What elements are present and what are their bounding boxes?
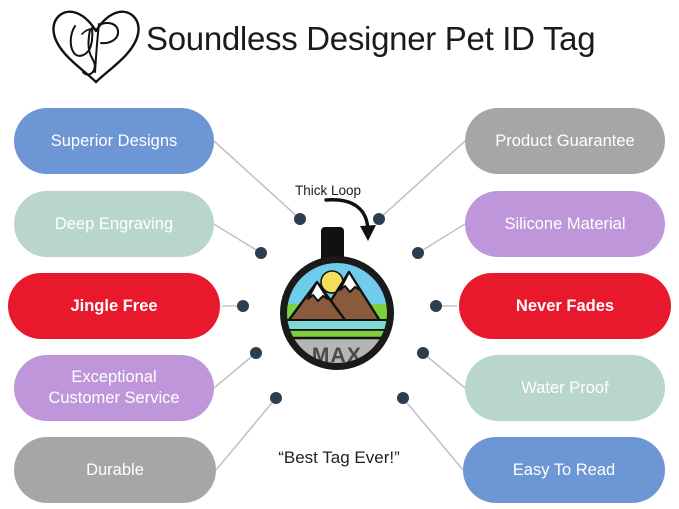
connector-line-water-proof [423,353,465,388]
connector-dot-easy-to-read [397,392,409,404]
connector-dot-never-fades [430,300,442,312]
connector-dot-water-proof [417,347,429,359]
connector-dot-exceptional [250,347,262,359]
connector-line-exceptional [214,353,256,388]
tag-ground-band [282,330,394,338]
feature-label: Jingle Free [70,296,157,317]
feature-label: Exceptional Customer Service [48,367,179,409]
pet-id-tag[interactable]: MAX [262,220,412,375]
feature-jingle-free[interactable]: Jingle Free [8,273,220,339]
connector-dot-jingle-free [237,300,249,312]
feature-exceptional-customer-service[interactable]: Exceptional Customer Service [14,355,214,421]
feature-label: Superior Designs [51,131,178,152]
feature-durable[interactable]: Durable [14,437,216,503]
feature-label-line2: Customer Service [48,389,179,407]
feature-label: Product Guarantee [495,131,634,152]
connector-dot-durable [270,392,282,404]
feature-superior-designs[interactable]: Superior Designs [14,108,214,174]
feature-easy-to-read[interactable]: Easy To Read [463,437,665,503]
feature-deep-engraving[interactable]: Deep Engraving [14,191,214,257]
feature-label-line1: Exceptional [71,368,156,386]
feature-label: Water Proof [521,378,608,399]
connector-dot-silicone-material [412,247,424,259]
feature-label: Deep Engraving [55,214,173,235]
feature-never-fades[interactable]: Never Fades [459,273,671,339]
feature-silicone-material[interactable]: Silicone Material [465,191,665,257]
connector-line-deep-engraving [214,224,261,253]
feature-label: Durable [86,460,144,481]
customer-quote: “Best Tag Ever!” [224,448,454,468]
tag-water [284,320,390,330]
feature-product-guarantee[interactable]: Product Guarantee [465,108,665,174]
connector-line-silicone-material [418,224,465,253]
connector-line-superior-designs [214,141,300,219]
feature-label: Silicone Material [504,214,625,235]
feature-label: Easy To Read [513,460,615,481]
feature-label: Never Fades [516,296,614,317]
feature-water-proof[interactable]: Water Proof [465,355,665,421]
